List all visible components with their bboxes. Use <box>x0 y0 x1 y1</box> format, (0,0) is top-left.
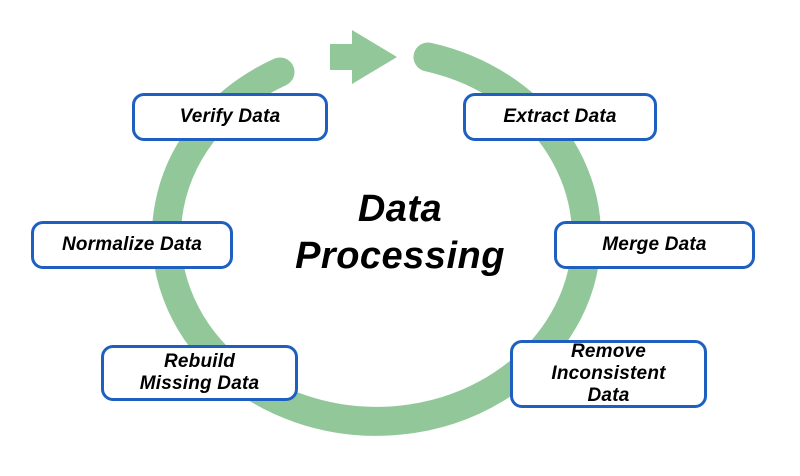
stage-merge-data[interactable]: Merge Data <box>554 221 755 269</box>
stage-normalize-data[interactable]: Normalize Data <box>31 221 233 269</box>
stage-remove-inconsistent-data[interactable]: Remove Inconsistent Data <box>510 340 707 408</box>
stage-extract-data[interactable]: Extract Data <box>463 93 657 141</box>
page-title: Data Processing <box>255 186 545 280</box>
stage-rebuild-missing-data[interactable]: Rebuild Missing Data <box>101 345 298 401</box>
diagram-canvas: Data Processing Verify Data Extract Data… <box>0 0 800 476</box>
cycle-arrowhead <box>330 30 397 84</box>
stage-verify-data[interactable]: Verify Data <box>132 93 328 141</box>
